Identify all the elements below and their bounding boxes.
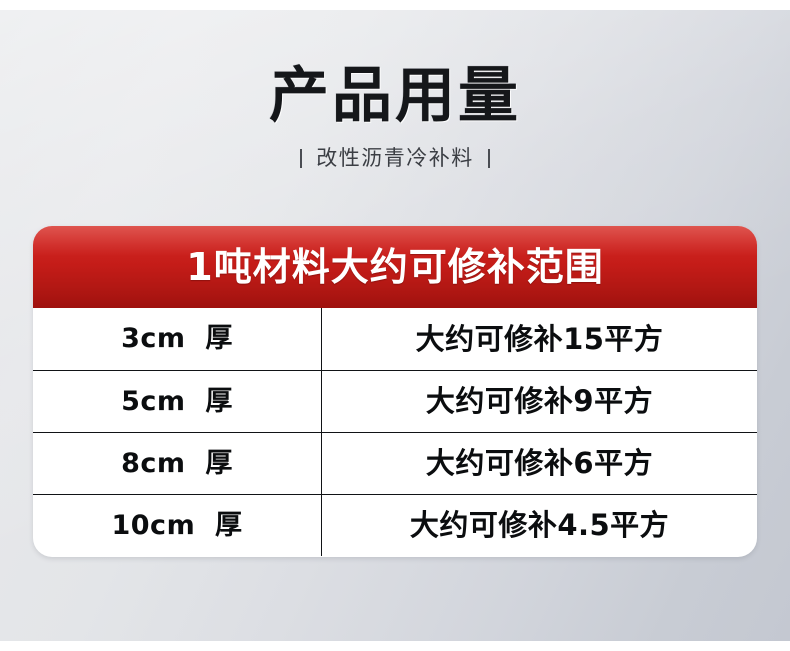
- cell-area: 大约可修补15平方: [322, 308, 757, 370]
- area-value: 大约可修补9平方: [426, 385, 653, 418]
- usage-table-card: 1吨材料大约可修补范围 3cm 厚 大约可修补15平方 5cm 厚 大约可修补9…: [33, 226, 757, 557]
- cell-thickness: 10cm 厚: [33, 495, 322, 556]
- subtitle-row: 改性沥青冷补料: [0, 146, 790, 170]
- header-block: 产品用量 改性沥青冷补料: [0, 60, 790, 170]
- cell-area: 大约可修补4.5平方: [322, 495, 757, 556]
- page-title: 产品用量: [0, 60, 790, 132]
- cell-thickness: 5cm 厚: [33, 371, 322, 432]
- subtitle-right-bar-icon: [488, 149, 490, 168]
- table-row: 8cm 厚 大约可修补6平方: [33, 432, 757, 494]
- area-value: 大约可修补4.5平方: [410, 509, 669, 542]
- table-row: 10cm 厚 大约可修补4.5平方: [33, 494, 757, 556]
- thickness-value: 5cm 厚: [121, 387, 233, 417]
- table-row: 5cm 厚 大约可修补9平方: [33, 370, 757, 432]
- usage-table-banner-title: 1吨材料大约可修补范围: [186, 245, 603, 289]
- usage-table-banner: 1吨材料大约可修补范围: [33, 226, 757, 308]
- cell-area: 大约可修补9平方: [322, 371, 757, 432]
- usage-table-body: 3cm 厚 大约可修补15平方 5cm 厚 大约可修补9平方 8cm 厚: [33, 308, 757, 556]
- thickness-value: 10cm 厚: [111, 511, 242, 541]
- page-subtitle: 改性沥青冷补料: [316, 146, 474, 170]
- thickness-value: 8cm 厚: [121, 449, 233, 479]
- cell-area: 大约可修补6平方: [322, 433, 757, 494]
- cell-thickness: 8cm 厚: [33, 433, 322, 494]
- subtitle-left-bar-icon: [300, 149, 302, 168]
- area-value: 大约可修补6平方: [426, 447, 653, 480]
- thickness-value: 3cm 厚: [121, 324, 233, 354]
- cell-thickness: 3cm 厚: [33, 308, 322, 370]
- page-root: 产品用量 改性沥青冷补料 1吨材料大约可修补范围 3cm 厚 大约可修补15平方: [0, 0, 790, 651]
- area-value: 大约可修补15平方: [416, 323, 664, 356]
- table-row: 3cm 厚 大约可修补15平方: [33, 308, 757, 370]
